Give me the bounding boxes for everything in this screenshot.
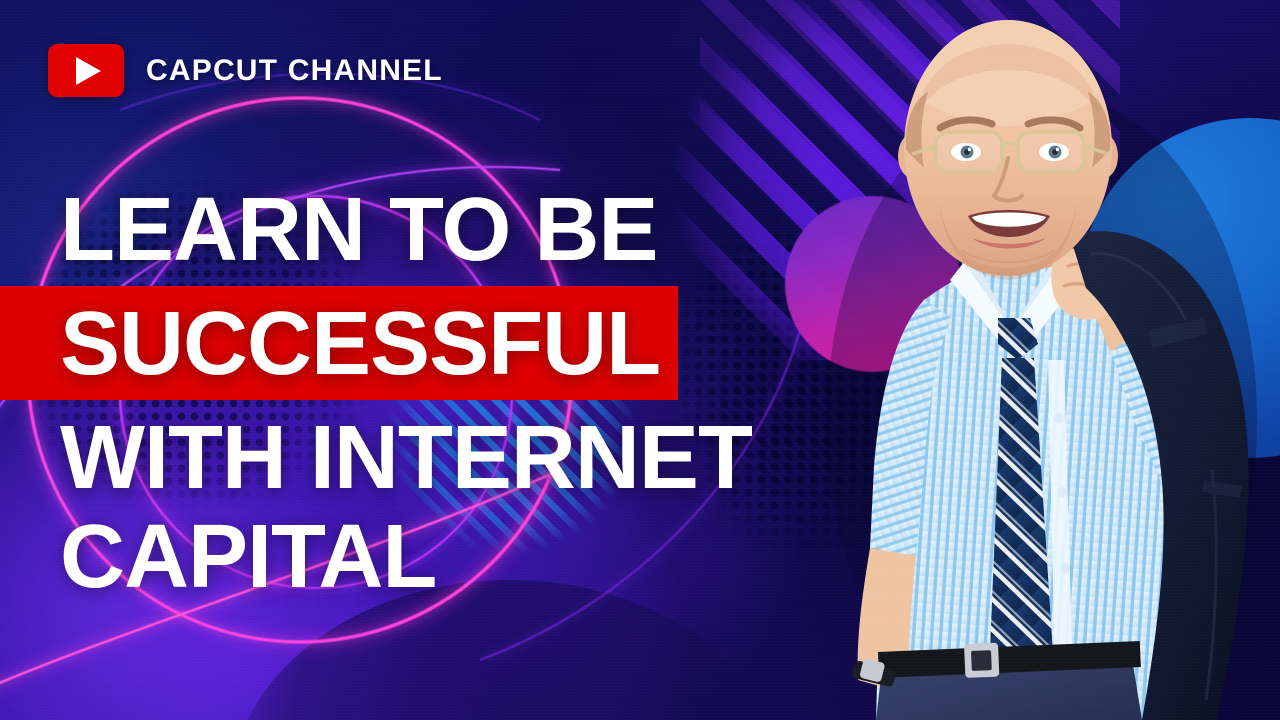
headline-block: LEARN TO BE SUCCESSFUL WITH INTERNET CAP… [0,186,880,601]
headline-line-2: SUCCESSFUL [0,300,678,388]
youtube-play-icon[interactable] [48,44,124,97]
headline-line-4: CAPITAL [0,503,880,601]
headline-line-3: WITH INTERNET [0,400,880,502]
channel-name-label: CAPCUT CHANNEL [146,54,443,88]
presenter-photo [812,0,1280,720]
headline-highlight-box: SUCCESSFUL [0,286,678,400]
channel-badge[interactable]: CAPCUT CHANNEL [48,44,443,97]
play-triangle-glyph [76,57,101,85]
thumbnail-canvas: CAPCUT CHANNEL LEARN TO BE SUCCESSFUL WI… [0,0,1280,720]
headline-line-1: LEARN TO BE [0,186,880,274]
